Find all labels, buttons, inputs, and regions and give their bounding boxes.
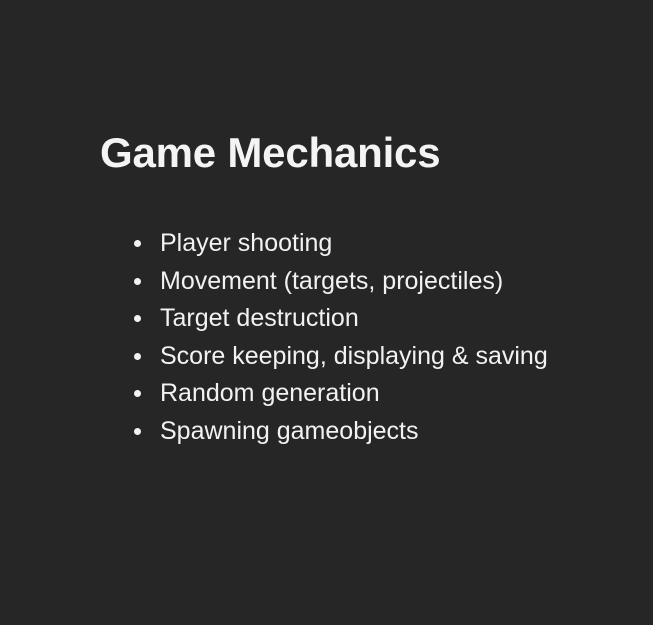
list-item: Player shooting [134, 228, 634, 266]
bullet-dot-icon [134, 315, 141, 322]
bullet-dot-icon [134, 353, 141, 360]
list-item-label: Movement (targets, projectiles) [160, 266, 503, 296]
list-item-label: Target destruction [160, 303, 359, 333]
bullet-dot-icon [134, 278, 141, 285]
list-item-label: Score keeping, displaying & saving [160, 341, 548, 371]
presentation-slide: Game Mechanics Player shooting Movement … [0, 0, 653, 625]
list-item: Random generation [134, 378, 634, 416]
list-item-label: Player shooting [160, 228, 332, 258]
bullet-list: Player shooting Movement (targets, proje… [134, 228, 634, 454]
list-item: Score keeping, displaying & saving [134, 341, 634, 379]
list-item: Target destruction [134, 303, 634, 341]
bullet-dot-icon [134, 428, 141, 435]
list-item-label: Random generation [160, 378, 380, 408]
page-title: Game Mechanics [100, 129, 580, 176]
list-item: Spawning gameobjects [134, 416, 634, 454]
bullet-dot-icon [134, 390, 141, 397]
list-item: Movement (targets, projectiles) [134, 266, 634, 304]
list-item-label: Spawning gameobjects [160, 416, 419, 446]
bullet-dot-icon [134, 240, 141, 247]
